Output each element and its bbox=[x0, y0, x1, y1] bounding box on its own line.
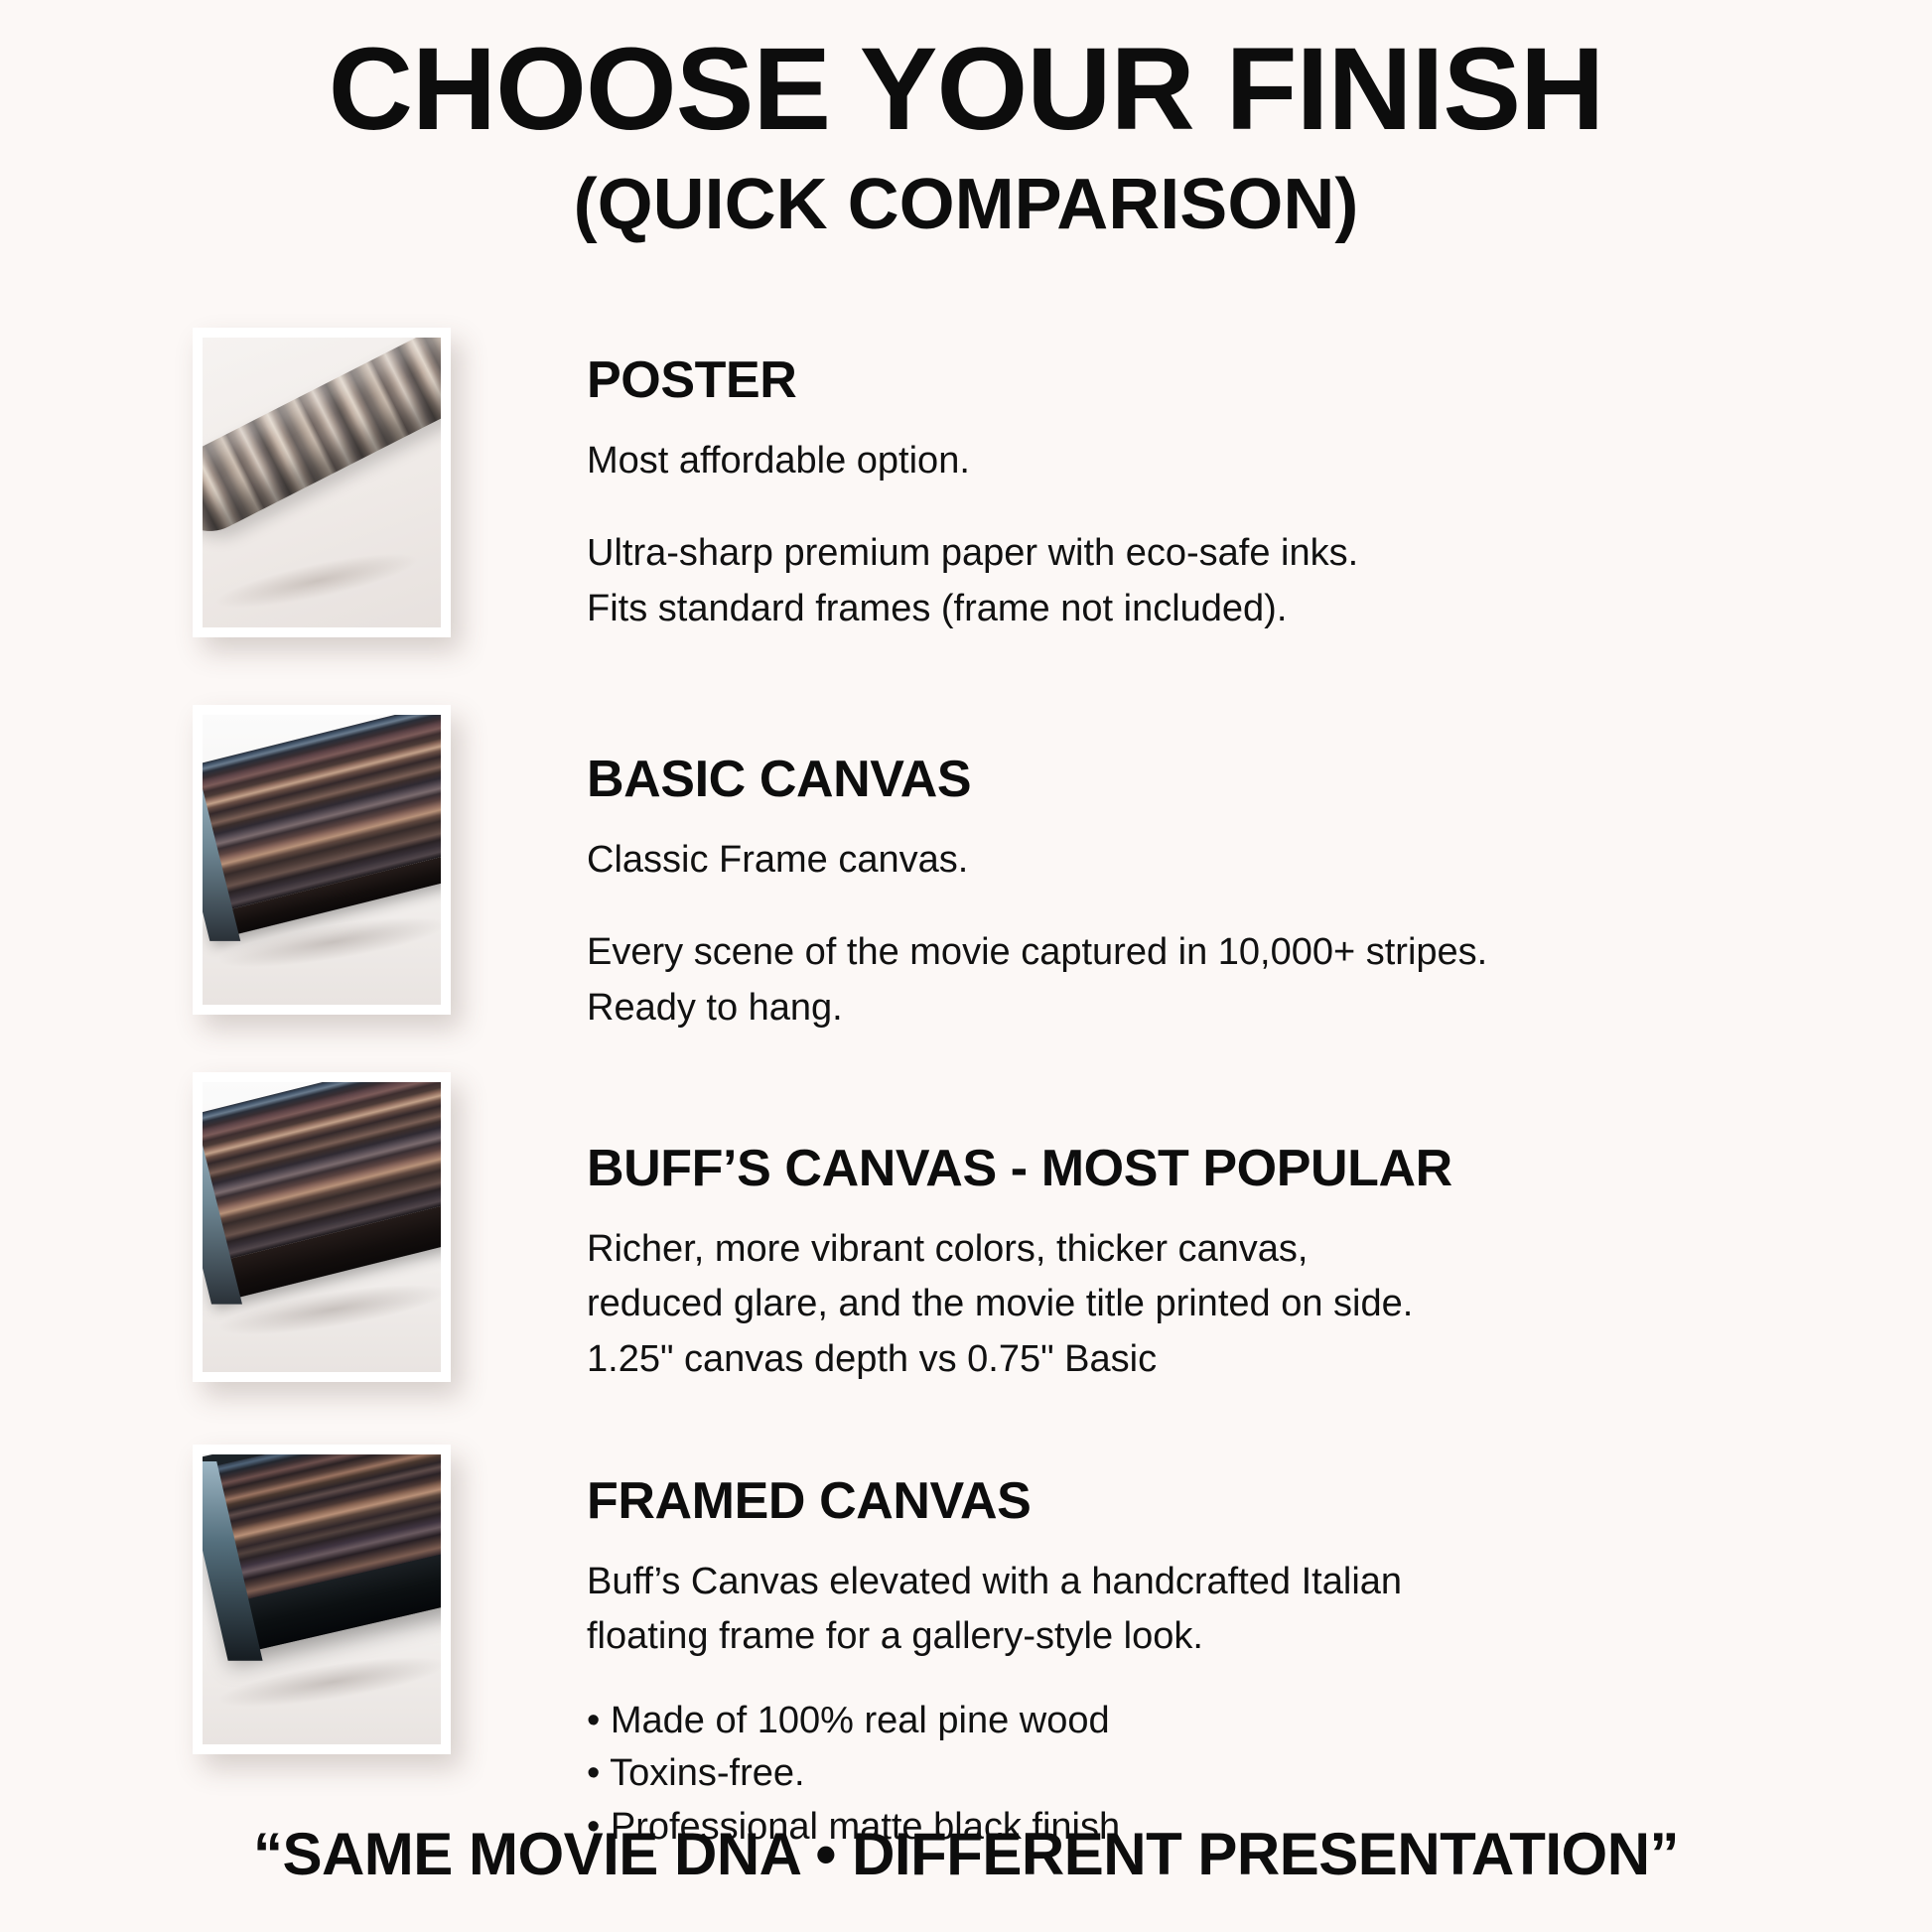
buffs-canvas-text-block: BUFF’S CANVAS - MOST POPULAR Richer, mor… bbox=[461, 1072, 1932, 1387]
basic-canvas-detail-line-1: Every scene of the movie captured in 10,… bbox=[587, 925, 1932, 980]
poster-thumbnail-card bbox=[193, 328, 451, 637]
buffs-canvas-slab bbox=[203, 1082, 441, 1304]
framed-canvas-bullet-1: • Made of 100% real pine wood bbox=[587, 1695, 1932, 1748]
buffs-canvas-detail-line-2: 1.25" canvas depth vs 0.75" Basic bbox=[587, 1332, 1932, 1387]
section-buffs-canvas: BUFF’S CANVAS - MOST POPULAR Richer, mor… bbox=[0, 1072, 1932, 1390]
framed-canvas-floating-frame bbox=[203, 1454, 441, 1656]
spacer bbox=[587, 888, 1932, 925]
buffs-canvas-detail-line-1: reduced glare, and the movie title print… bbox=[587, 1277, 1932, 1331]
buffs-canvas-thumbnail-card bbox=[193, 1072, 451, 1382]
comparison-infographic: CHOOSE YOUR FINISH (QUICK COMPARISON) bbox=[0, 0, 1932, 1932]
buffs-canvas-thumbnail-wrap bbox=[193, 1072, 461, 1390]
basic-canvas-title: BASIC CANVAS bbox=[587, 753, 1932, 807]
poster-thumbnail-wrap bbox=[193, 328, 461, 645]
framed-canvas-corner-photo bbox=[203, 1454, 441, 1744]
basic-canvas-thumbnail-wrap bbox=[193, 705, 461, 1023]
framed-canvas-bullet-2: • Toxins-free. bbox=[587, 1747, 1932, 1801]
footer-tagline: “SAME MOVIE DNA • DIFFERENT PRESENTATION… bbox=[0, 1820, 1932, 1888]
basic-canvas-thumbnail-inner bbox=[203, 715, 441, 1005]
framed-canvas-thumbnail-card bbox=[193, 1445, 451, 1754]
section-basic-canvas: BASIC CANVAS Classic Frame canvas. Every… bbox=[0, 705, 1932, 1035]
framed-canvas-detail-line-1: floating frame for a gallery-style look. bbox=[587, 1609, 1932, 1664]
section-poster: POSTER Most affordable option. Ultra-sha… bbox=[0, 328, 1932, 645]
basic-canvas-detail-line-2: Ready to hang. bbox=[587, 981, 1932, 1035]
framed-canvas-title: FRAMED CANVAS bbox=[587, 1474, 1932, 1529]
basic-canvas-tagline: Classic Frame canvas. bbox=[587, 833, 1932, 888]
poster-text-block: POSTER Most affordable option. Ultra-sha… bbox=[461, 328, 1932, 636]
basic-canvas-text-block: BASIC CANVAS Classic Frame canvas. Every… bbox=[461, 705, 1932, 1035]
poster-rolled-tube-photo bbox=[203, 338, 441, 627]
framed-canvas-thumbnail-wrap bbox=[193, 1445, 461, 1762]
poster-detail-line-2: Fits standard frames (frame not included… bbox=[587, 582, 1932, 636]
section-framed-canvas: FRAMED CANVAS Buff’s Canvas elevated wit… bbox=[0, 1445, 1932, 1855]
header: CHOOSE YOUR FINISH (QUICK COMPARISON) bbox=[0, 0, 1932, 244]
poster-detail-line-1: Ultra-sharp premium paper with eco-safe … bbox=[587, 526, 1932, 581]
buffs-canvas-edge-photo bbox=[203, 1082, 441, 1372]
page-title: CHOOSE YOUR FINISH bbox=[0, 28, 1932, 152]
framed-canvas-text-block: FRAMED CANVAS Buff’s Canvas elevated wit… bbox=[461, 1445, 1932, 1855]
spacer bbox=[587, 488, 1932, 526]
rolled-poster-tube bbox=[203, 338, 441, 545]
buffs-canvas-thumbnail-inner bbox=[203, 1082, 441, 1372]
basic-canvas-thumbnail-card bbox=[193, 705, 451, 1015]
page-subtitle: (QUICK COMPARISON) bbox=[0, 166, 1932, 244]
poster-drop-shadow bbox=[211, 543, 422, 620]
framed-canvas-thumbnail-inner bbox=[203, 1454, 441, 1744]
tube-open-end bbox=[203, 468, 205, 548]
basic-canvas-slab bbox=[203, 715, 441, 940]
poster-thumbnail-inner bbox=[203, 338, 441, 627]
framed-canvas-tagline: Buff’s Canvas elevated with a handcrafte… bbox=[587, 1555, 1932, 1609]
poster-title: POSTER bbox=[587, 353, 1932, 408]
buffs-canvas-tagline: Richer, more vibrant colors, thicker can… bbox=[587, 1222, 1932, 1277]
poster-tagline: Most affordable option. bbox=[587, 434, 1932, 488]
basic-canvas-edge-photo bbox=[203, 715, 441, 1005]
buffs-canvas-title: BUFF’S CANVAS - MOST POPULAR bbox=[587, 1142, 1932, 1196]
